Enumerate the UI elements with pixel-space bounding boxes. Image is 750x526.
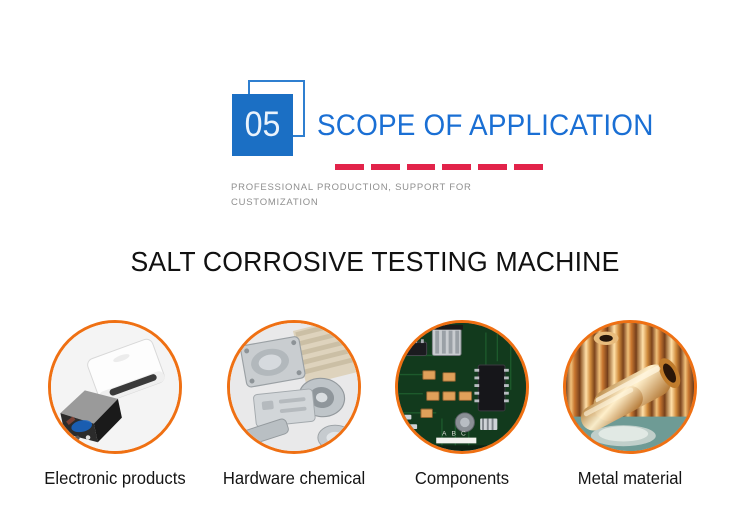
components-illustration: ABC bbox=[398, 323, 526, 451]
card-label: Metal material bbox=[554, 468, 706, 489]
metal-material-photo bbox=[563, 320, 697, 454]
card-label: Components bbox=[386, 468, 538, 489]
divider-dash bbox=[514, 164, 543, 170]
card-label: Electronic products bbox=[39, 468, 191, 489]
slide-canvas: 05 SCOPE OF APPLICATION PROFESSIONAL PRO… bbox=[0, 0, 750, 526]
card-label: Hardware chemical bbox=[218, 468, 370, 489]
electronic-products-photo bbox=[48, 320, 182, 454]
components-photo: ABC bbox=[395, 320, 529, 454]
svg-text:B: B bbox=[451, 431, 456, 438]
divider-dash bbox=[442, 164, 471, 170]
divider-dash bbox=[371, 164, 400, 170]
application-card-metal-material[interactable]: Metal material bbox=[550, 320, 710, 489]
badge-number-label: 05 bbox=[234, 94, 290, 156]
section-subtitle: PROFESSIONAL PRODUCTION, SUPPORT FOR CUS… bbox=[231, 180, 521, 210]
metal-material-illustration bbox=[566, 323, 694, 451]
svg-text:A: A bbox=[442, 431, 447, 438]
divider-dash bbox=[407, 164, 436, 170]
section-title: SCOPE OF APPLICATION bbox=[317, 109, 654, 143]
section-number-badge: 05 bbox=[232, 80, 312, 158]
divider-dash bbox=[335, 164, 364, 170]
hardware-chemical-photo bbox=[227, 320, 361, 454]
application-card-components[interactable]: ABC Components bbox=[382, 320, 542, 489]
application-card-electronic-products[interactable]: Electronic products bbox=[35, 320, 195, 489]
electronic-products-illustration bbox=[51, 323, 179, 451]
divider-dash bbox=[478, 164, 507, 170]
dashed-divider-icon bbox=[335, 164, 543, 170]
page-title: SALT CORROSIVE TESTING MACHINE bbox=[19, 246, 732, 278]
application-card-hardware-chemical[interactable]: Hardware chemical bbox=[214, 320, 374, 489]
application-card-row: Electronic products bbox=[0, 320, 750, 520]
hardware-chemical-illustration bbox=[230, 323, 358, 451]
svg-text:C: C bbox=[461, 431, 466, 438]
